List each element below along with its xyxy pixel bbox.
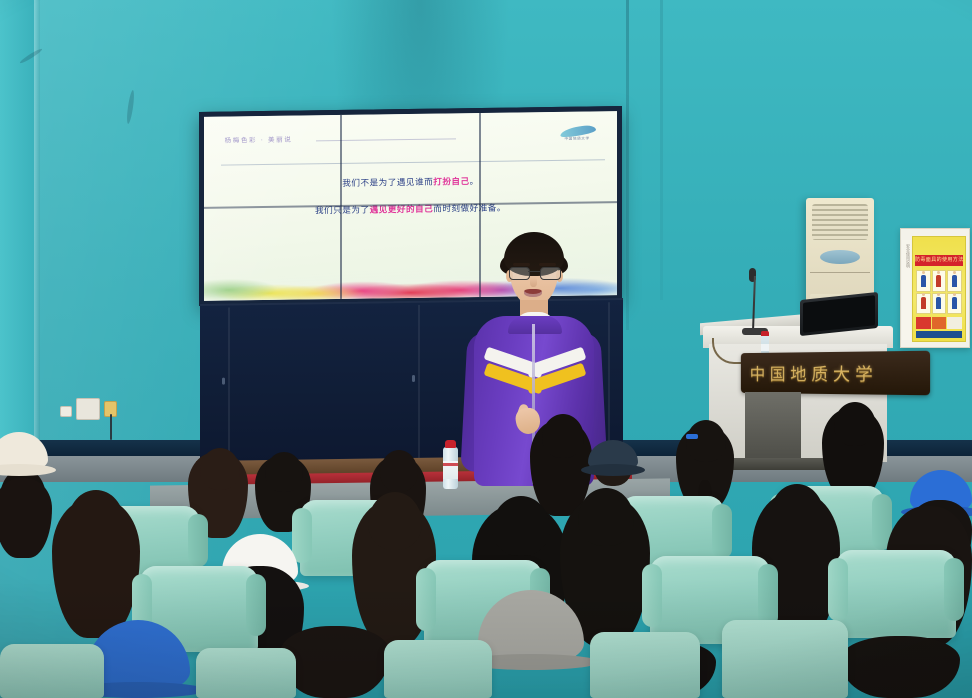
wall-corner-edge — [34, 0, 40, 460]
slide-line1-highlight: 打扮自己 — [433, 176, 469, 187]
seat[interactable] — [384, 640, 492, 698]
slide-line1-prefix: 我们不是为了遇见谁而 — [342, 176, 433, 187]
seat[interactable] — [836, 550, 956, 638]
cap-brim — [581, 464, 645, 476]
audience-head — [542, 414, 584, 458]
audience-head — [686, 420, 726, 462]
podium-pedestal — [745, 392, 801, 464]
bottle-cap — [445, 440, 456, 448]
poster-step — [916, 270, 931, 292]
slide-header-text: 杨梅色彩 · 美丽说 — [225, 134, 293, 145]
poster-step — [932, 293, 947, 315]
logo-caption: 中国地质大学 — [564, 136, 589, 141]
seat[interactable] — [196, 648, 296, 698]
wall-left-panel — [0, 0, 34, 460]
poster-step-grid — [916, 270, 962, 314]
bottle-label-stripe — [443, 463, 458, 466]
glasses-bridge — [528, 271, 540, 272]
audience-head — [68, 490, 124, 548]
cabinet-handle[interactable] — [222, 378, 225, 385]
poster-figure-icon — [936, 297, 941, 309]
audience-head — [492, 496, 550, 556]
seat[interactable] — [590, 632, 700, 698]
poster-title: 防毒面具的使用方法 — [915, 255, 963, 266]
wall-outlet-panel[interactable] — [76, 398, 100, 420]
ac-grille — [812, 204, 868, 240]
audience-head — [368, 492, 422, 550]
poster-figure-icon — [952, 275, 957, 287]
seat[interactable] — [722, 620, 848, 698]
slide-header-rule — [316, 138, 456, 141]
poster-footer-block — [947, 317, 962, 329]
poster-step — [916, 293, 931, 315]
cabinet-handle[interactable] — [412, 375, 415, 382]
speaker-mouth — [524, 289, 542, 297]
poster-figure-icon — [921, 275, 926, 287]
podium-plate-text: 中国地质大学 — [750, 360, 878, 386]
ac-badge — [820, 250, 860, 264]
audience-head — [380, 450, 418, 492]
poster-step — [947, 270, 962, 292]
audience-head — [770, 484, 824, 542]
jacket-collar — [508, 316, 562, 334]
bottle-cap — [761, 331, 769, 336]
university-logo: 中国地质大学 — [558, 124, 600, 147]
hair-clip — [686, 434, 698, 439]
cabinet-seam — [228, 308, 230, 462]
glasses-lens — [540, 267, 561, 280]
audience-head — [578, 488, 634, 546]
audience-head — [834, 402, 876, 446]
safety-poster[interactable]: 防毒面具的使用方法 — [912, 236, 966, 342]
poster-footer-blocks — [916, 317, 962, 329]
water-bottle[interactable] — [443, 447, 458, 489]
audience-head — [265, 452, 303, 492]
bottle-label — [761, 344, 769, 351]
cabinet-seam — [418, 305, 420, 459]
cabinet-seam — [608, 302, 610, 456]
lecture-hall-photo: 杨梅色彩 · 美丽说 中国地质大学 我们不是为了遇见谁而打扮自己。 我们只是为了… — [0, 0, 972, 698]
poster-side-text: 安全使用说明 — [902, 240, 911, 340]
poster-figure-icon — [952, 297, 957, 309]
speaker-eyebrow — [539, 263, 556, 266]
poster-footer-block — [916, 317, 931, 329]
seat[interactable] — [0, 644, 104, 698]
poster-figure-icon — [936, 275, 941, 287]
wall-seam — [626, 0, 629, 330]
wall-switch[interactable] — [60, 406, 72, 417]
poster-footer-block — [932, 317, 947, 329]
slide-divider-line — [221, 159, 605, 165]
poster-footer-bar — [916, 331, 962, 338]
poster-step — [932, 270, 947, 292]
audience-hair — [840, 636, 960, 698]
audience-head — [200, 448, 240, 490]
speaker-nose — [530, 277, 537, 287]
poster-step — [947, 293, 962, 315]
slide-line1-suffix: 。 — [470, 176, 479, 186]
wall-seam-secondary — [660, 0, 663, 300]
audience-hair — [280, 626, 390, 698]
podium-name-plate: 中国地质大学 — [741, 351, 930, 396]
ac-seam — [810, 272, 870, 273]
monitor-screen — [803, 295, 875, 333]
speaker-eyebrow — [513, 263, 530, 266]
slide-line-1: 我们不是为了遇见谁而打扮自己。 — [204, 173, 617, 191]
poster-figure-icon — [921, 297, 926, 309]
glasses-lens — [509, 267, 530, 280]
wall-cable — [110, 414, 112, 440]
